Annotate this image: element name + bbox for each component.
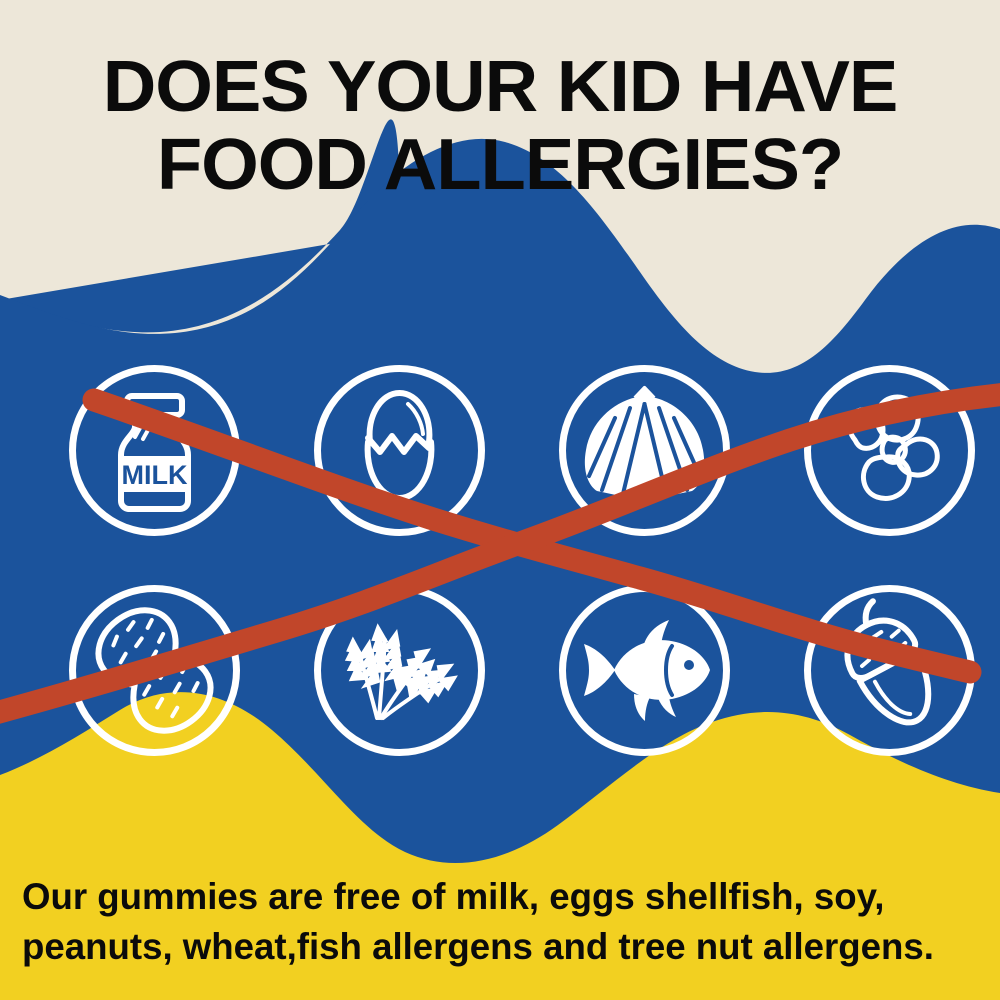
wheat-stalks-icon (307, 578, 492, 763)
fish-icon (552, 578, 737, 763)
allergy-infographic-poster: DOES YOUR KID HAVE FOOD ALLERGIES? MILK (0, 0, 1000, 1000)
allergen-badge-wheat (307, 578, 492, 763)
acorn-icon (797, 578, 982, 763)
allergen-badge-shellfish (552, 358, 737, 543)
milk-label: MILK (122, 460, 188, 490)
footer-caption: Our gummies are free of milk, eggs shell… (22, 872, 982, 972)
milk-bottle-icon: MILK (62, 358, 247, 543)
soy-beans-icon (797, 358, 982, 543)
scallop-shell-icon (552, 358, 737, 543)
allergen-badge-fish (552, 578, 737, 763)
allergen-badge-soy (797, 358, 982, 543)
footer-line-1: Our gummies are free of milk, eggs shell… (22, 872, 972, 922)
allergen-row-2 (62, 578, 982, 763)
footer-line-2: peanuts, wheat,fish allergens and tree n… (22, 922, 972, 972)
peanut-icon (62, 578, 247, 763)
cracked-egg-icon (307, 358, 492, 543)
allergen-badge-eggs (307, 358, 492, 543)
allergen-badge-treenuts (797, 578, 982, 763)
allergen-icon-grid: MILK (62, 358, 982, 763)
allergen-badge-milk: MILK (62, 358, 247, 543)
allergen-row-1: MILK (62, 358, 982, 543)
allergen-badge-peanuts (62, 578, 247, 763)
